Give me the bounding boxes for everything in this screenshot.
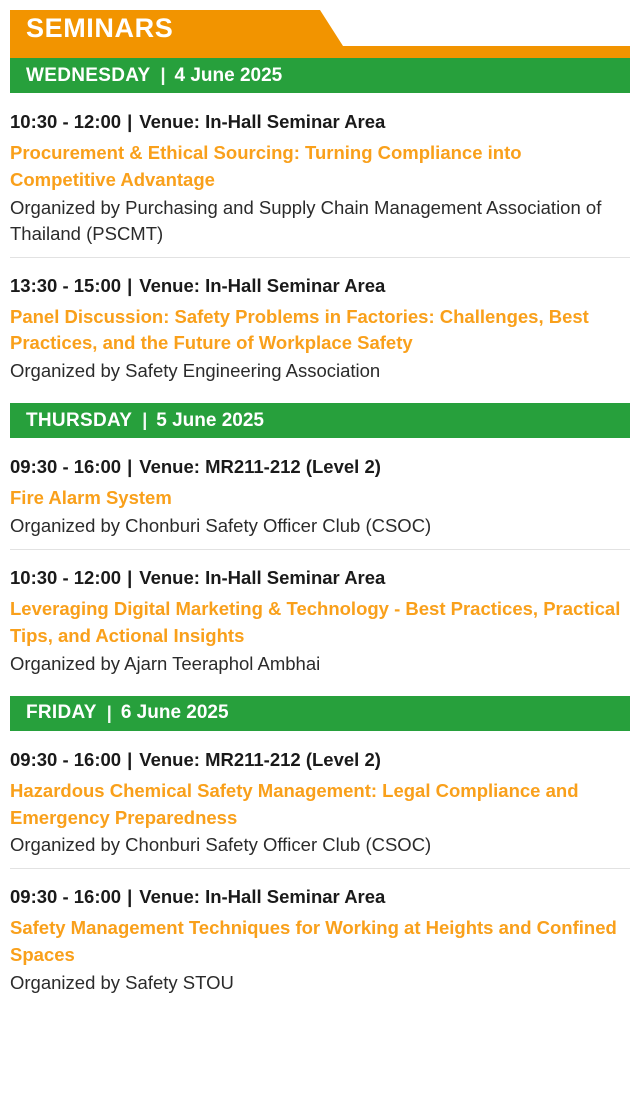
entry-organizer: Organized by Safety Engineering Associat… bbox=[10, 358, 630, 384]
meta-separator: | bbox=[127, 275, 132, 296]
day-name-label: WEDNESDAY bbox=[26, 65, 150, 87]
entry-title: Fire Alarm System bbox=[10, 485, 630, 512]
entry-title: Safety Management Techniques for Working… bbox=[10, 915, 630, 969]
entry-organizer: Organized by Safety STOU bbox=[10, 970, 630, 996]
entry-organizer: Organized by Chonburi Safety Officer Clu… bbox=[10, 513, 630, 539]
page-title: SEMINARS bbox=[26, 10, 173, 46]
entry-time: 13:30 - 15:00 bbox=[10, 275, 121, 296]
day-date-label: 5 June 2025 bbox=[156, 410, 264, 432]
day-header-friday: FRIDAY | 6 June 2025 bbox=[10, 696, 630, 731]
entry-time: 09:30 - 16:00 bbox=[10, 886, 121, 907]
entry-organizer: Organized by Ajarn Teeraphol Ambhai bbox=[10, 651, 630, 677]
meta-separator: | bbox=[127, 886, 132, 907]
entry-time: 10:30 - 12:00 bbox=[10, 111, 121, 132]
day-name-label: THURSDAY bbox=[26, 410, 132, 432]
entry-venue: Venue: In-Hall Seminar Area bbox=[139, 567, 385, 588]
day-separator: | bbox=[160, 65, 165, 86]
meta-separator: | bbox=[127, 749, 132, 770]
meta-separator: | bbox=[127, 567, 132, 588]
entry-title: Panel Discussion: Safety Problems in Fac… bbox=[10, 304, 630, 358]
entry-venue: Venue: In-Hall Seminar Area bbox=[139, 886, 385, 907]
day-separator: | bbox=[142, 410, 147, 431]
seminar-entry[interactable]: 10:30 - 12:00|Venue: In-Hall Seminar Are… bbox=[0, 550, 640, 687]
entry-meta-line: 09:30 - 16:00|Venue: MR211-212 (Level 2) bbox=[10, 455, 630, 478]
seminar-entry[interactable]: 10:30 - 12:00|Venue: In-Hall Seminar Are… bbox=[0, 93, 640, 257]
entry-venue: Venue: In-Hall Seminar Area bbox=[139, 275, 385, 296]
entry-organizer: Organized by Purchasing and Supply Chain… bbox=[10, 195, 630, 247]
entry-time: 10:30 - 12:00 bbox=[10, 567, 121, 588]
entry-organizer: Organized by Chonburi Safety Officer Clu… bbox=[10, 832, 630, 858]
seminar-entry[interactable]: 09:30 - 16:00|Venue: MR211-212 (Level 2)… bbox=[0, 438, 640, 549]
meta-separator: | bbox=[127, 456, 132, 477]
entry-meta-line: 09:30 - 16:00|Venue: MR211-212 (Level 2) bbox=[10, 748, 630, 771]
day-header-thursday: THURSDAY | 5 June 2025 bbox=[10, 403, 630, 438]
day-header-wednesday: WEDNESDAY | 4 June 2025 bbox=[10, 58, 630, 93]
entry-venue: Venue: In-Hall Seminar Area bbox=[139, 111, 385, 132]
seminar-entry[interactable]: 09:30 - 16:00|Venue: In-Hall Seminar Are… bbox=[0, 869, 640, 1006]
entry-title: Procurement & Ethical Sourcing: Turning … bbox=[10, 140, 630, 194]
day-date-label: 6 June 2025 bbox=[121, 702, 229, 724]
entry-meta-line: 10:30 - 12:00|Venue: In-Hall Seminar Are… bbox=[10, 566, 630, 589]
seminar-entry[interactable]: 09:30 - 16:00|Venue: MR211-212 (Level 2)… bbox=[0, 731, 640, 869]
seminars-banner: SEMINARS bbox=[10, 10, 630, 58]
entry-time: 09:30 - 16:00 bbox=[10, 749, 121, 770]
entry-meta-line: 13:30 - 15:00|Venue: In-Hall Seminar Are… bbox=[10, 274, 630, 297]
entry-venue: Venue: MR211-212 (Level 2) bbox=[139, 456, 381, 477]
entry-meta-line: 10:30 - 12:00|Venue: In-Hall Seminar Are… bbox=[10, 110, 630, 133]
day-name-label: FRIDAY bbox=[26, 702, 97, 724]
entry-time: 09:30 - 16:00 bbox=[10, 456, 121, 477]
entry-title: Hazardous Chemical Safety Management: Le… bbox=[10, 778, 630, 832]
day-date-label: 4 June 2025 bbox=[175, 65, 283, 87]
entry-title: Leveraging Digital Marketing & Technolog… bbox=[10, 596, 630, 650]
entry-meta-line: 09:30 - 16:00|Venue: In-Hall Seminar Are… bbox=[10, 885, 630, 908]
meta-separator: | bbox=[127, 111, 132, 132]
seminars-schedule-page: SEMINARS WEDNESDAY | 4 June 2025 10:30 -… bbox=[0, 10, 640, 1113]
day-separator: | bbox=[107, 703, 112, 724]
seminar-entry[interactable]: 13:30 - 15:00|Venue: In-Hall Seminar Are… bbox=[0, 258, 640, 395]
entry-venue: Venue: MR211-212 (Level 2) bbox=[139, 749, 381, 770]
